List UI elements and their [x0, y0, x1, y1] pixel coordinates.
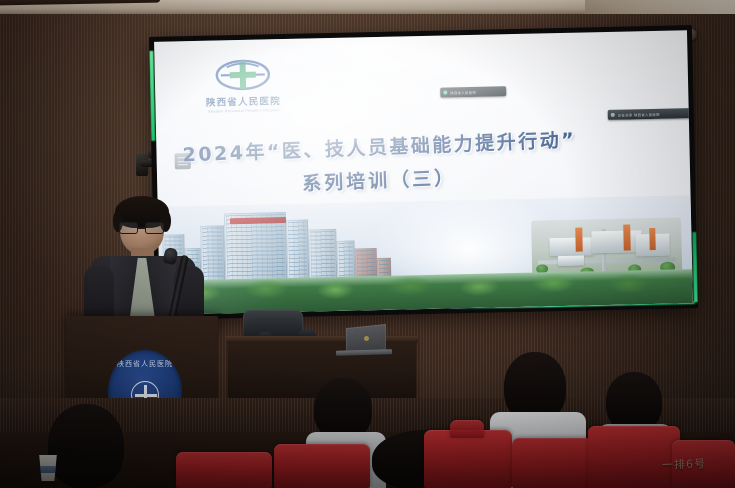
slide-photo-montage	[158, 195, 693, 315]
medical-cross-circle-logo	[214, 57, 271, 92]
projection-screen[interactable]: 陕西省人民医院 Shaanxi Provincial People's Hosp…	[149, 25, 698, 320]
signal-icon	[443, 90, 447, 94]
sharing-indicator-badge: 正在共享 陕西省人民医院	[608, 108, 693, 120]
hospital-main-building	[224, 212, 288, 287]
seat-number-label: 一排6号	[662, 455, 707, 473]
glasses-icon	[118, 222, 166, 235]
auditorium-seat[interactable]	[424, 430, 512, 488]
share-status-badge: 陕西省人民医院	[440, 86, 506, 97]
auditorium-seat[interactable]	[450, 420, 484, 438]
auditorium-seat[interactable]	[274, 444, 370, 488]
logo-name-cn: 陕西省人民医院	[189, 93, 297, 109]
building-block	[286, 220, 309, 286]
list-item	[0, 404, 120, 488]
badge-label: 正在共享 陕西省人民医院	[618, 111, 660, 117]
presentation-slide: 陕西省人民医院 Shaanxi Provincial People's Hosp…	[154, 30, 693, 315]
info-icon	[611, 113, 615, 117]
auditorium-seat[interactable]	[512, 438, 592, 488]
building-sign	[230, 217, 286, 224]
hospital-logo: 陕西省人民医院 Shaanxi Provincial People's Hosp…	[188, 57, 297, 123]
lecture-hall-photo: 陕西省人民医院 Shaanxi Provincial People's Hosp…	[0, 0, 735, 488]
emblem-name-cn: 陕西省人民医院	[108, 359, 182, 369]
auditorium-seat[interactable]	[176, 452, 272, 488]
badge-label: 陕西省人民医院	[450, 89, 476, 95]
